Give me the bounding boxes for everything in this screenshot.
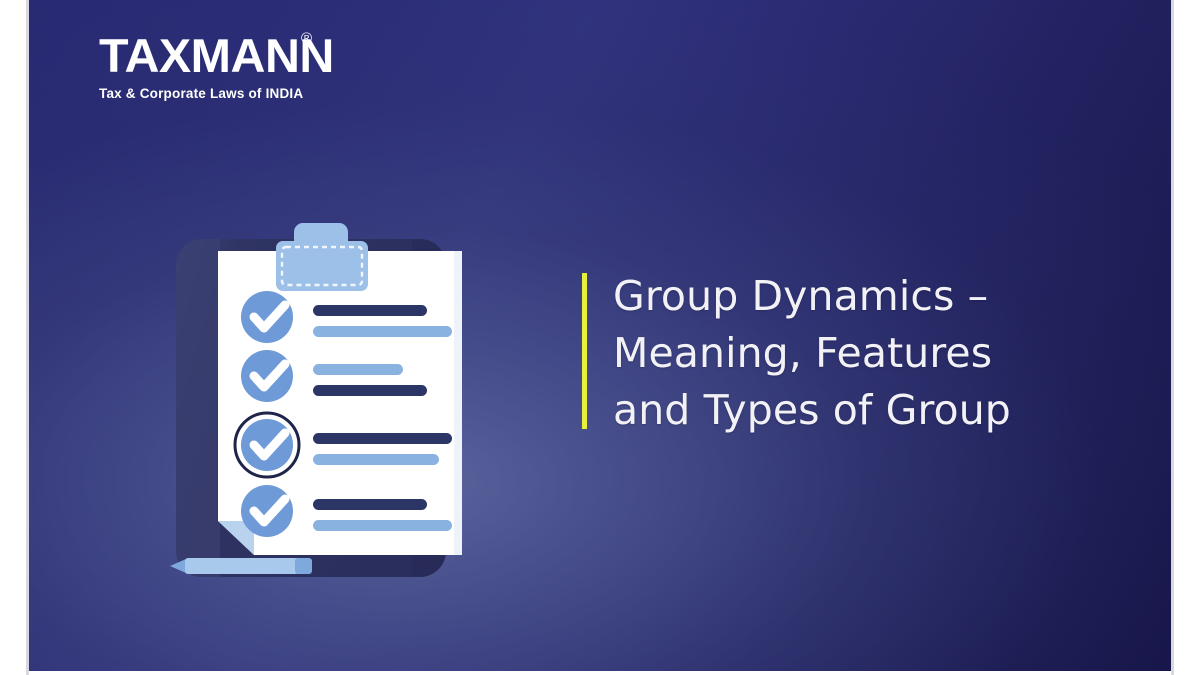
clipboard-clip — [276, 223, 368, 291]
row-1-line-light — [313, 326, 452, 337]
registered-trademark-icon: ® — [301, 31, 312, 46]
banner-right-edge — [1171, 0, 1174, 675]
row-1-line-dark — [313, 305, 427, 316]
title-block: Group Dynamics – Meaning, Features and T… — [582, 268, 1102, 439]
banner-background: TAXMANN ® Tax & Corporate Laws of INDIA — [29, 0, 1171, 671]
checklist-clipboard-illustration — [162, 213, 492, 595]
page-title: Group Dynamics – Meaning, Features and T… — [587, 268, 1102, 439]
logo-wordmark: TAXMANN — [99, 30, 408, 82]
banner-canvas: TAXMANN ® Tax & Corporate Laws of INDIA — [0, 0, 1200, 675]
row-4-line-light — [313, 520, 452, 531]
paper-edge-shade — [454, 251, 462, 555]
check-circle-3 — [241, 419, 293, 471]
check-circle-4 — [241, 485, 293, 537]
row-2-line-dark — [313, 385, 427, 396]
check-circle-2 — [241, 350, 293, 402]
logo-tagline: Tax & Corporate Laws of INDIA — [99, 86, 399, 102]
row-3-line-light — [313, 454, 439, 465]
check-circle-1 — [241, 291, 293, 343]
row-4-line-dark — [313, 499, 427, 510]
row-3-line-dark — [313, 433, 452, 444]
pencil-icon — [170, 558, 312, 574]
taxmann-logo: TAXMANN ® Tax & Corporate Laws of INDIA — [99, 30, 399, 102]
row-2-line-light — [313, 364, 403, 375]
